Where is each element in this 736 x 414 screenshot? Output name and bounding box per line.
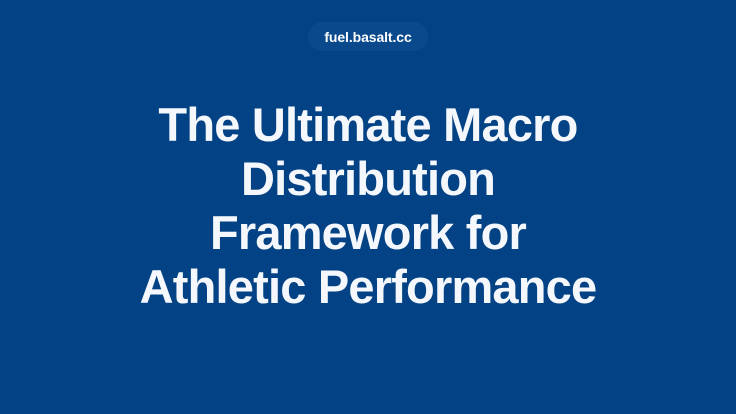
headline-line-2: Distribution xyxy=(241,152,495,206)
social-share-card: fuel.basalt.cc The Ultimate Macro Distri… xyxy=(0,0,736,414)
headline-line-4: Athletic Performance xyxy=(140,260,597,314)
headline-line-3: Framework for xyxy=(210,206,526,260)
headline: The Ultimate Macro Distribution Framewor… xyxy=(0,98,736,314)
site-domain-badge-label: fuel.basalt.cc xyxy=(324,30,411,44)
headline-line-1: The Ultimate Macro xyxy=(158,98,577,152)
site-domain-badge[interactable]: fuel.basalt.cc xyxy=(308,22,427,51)
